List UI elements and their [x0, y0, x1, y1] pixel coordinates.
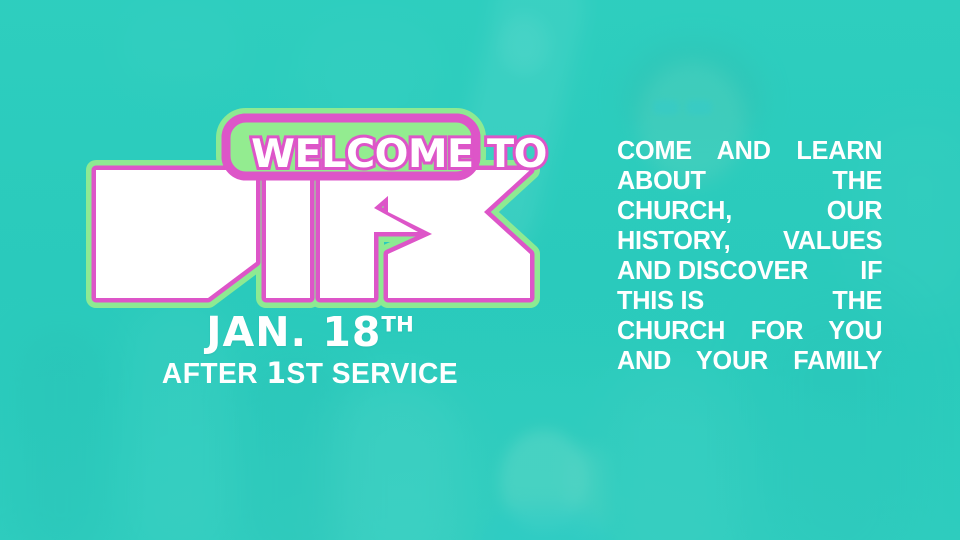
event-date-headline: JAN. 18TH [95, 312, 525, 354]
blurb-line: CHURCH FOR YOU [617, 316, 882, 346]
event-time-prefix: AFTER [162, 358, 266, 390]
event-time-line: AFTER 1ST SERVICE [101, 358, 518, 389]
blurb-line: HISTORY, VALUES [617, 226, 882, 256]
blurb-line-right: IF [860, 256, 882, 286]
blurb-line: COME AND LEARN [617, 136, 882, 166]
blurb-line-right: VALUES [783, 226, 882, 256]
welcome-to-life-logo: WELCOME TO [88, 112, 538, 302]
blurb-line-left: CHURCH, [617, 196, 732, 226]
blurb-line-right: THE [832, 166, 882, 196]
blurb-line: CHURCH, OUR [617, 196, 882, 226]
blurb-line: AND YOUR FAMILY [617, 346, 882, 376]
event-service-number: 1 [266, 356, 286, 390]
blurb-line-right: OUR [827, 196, 883, 226]
blurb-line: THIS IS THE [617, 286, 882, 316]
blurb-line-left: HISTORY, [617, 226, 730, 256]
blurb-line-right: THE [832, 286, 882, 316]
blurb-line-left: THIS IS [617, 286, 704, 316]
event-description: COME AND LEARN ABOUT THE CHURCH, OUR HIS… [617, 136, 882, 376]
event-time-rest: ST SERVICE [286, 358, 458, 390]
event-date-block: JAN. 18TH AFTER 1ST SERVICE [95, 312, 525, 389]
blurb-line-left: AND DISCOVER [617, 256, 808, 286]
welcome-to-text-wrap: WELCOME TO [254, 128, 544, 180]
event-date-ordinal-suffix: TH [381, 312, 413, 337]
blurb-line: AND DISCOVER IF [617, 256, 882, 286]
blurb-line: ABOUT THE [617, 166, 882, 196]
promo-poster: WELCOME TO JAN. 18TH AFTER 1ST SERVICE C… [0, 0, 960, 540]
event-date-main: JAN. 18 [206, 308, 381, 356]
welcome-to-label: WELCOME TO [251, 135, 547, 174]
blurb-line-left: ABOUT [617, 166, 706, 196]
